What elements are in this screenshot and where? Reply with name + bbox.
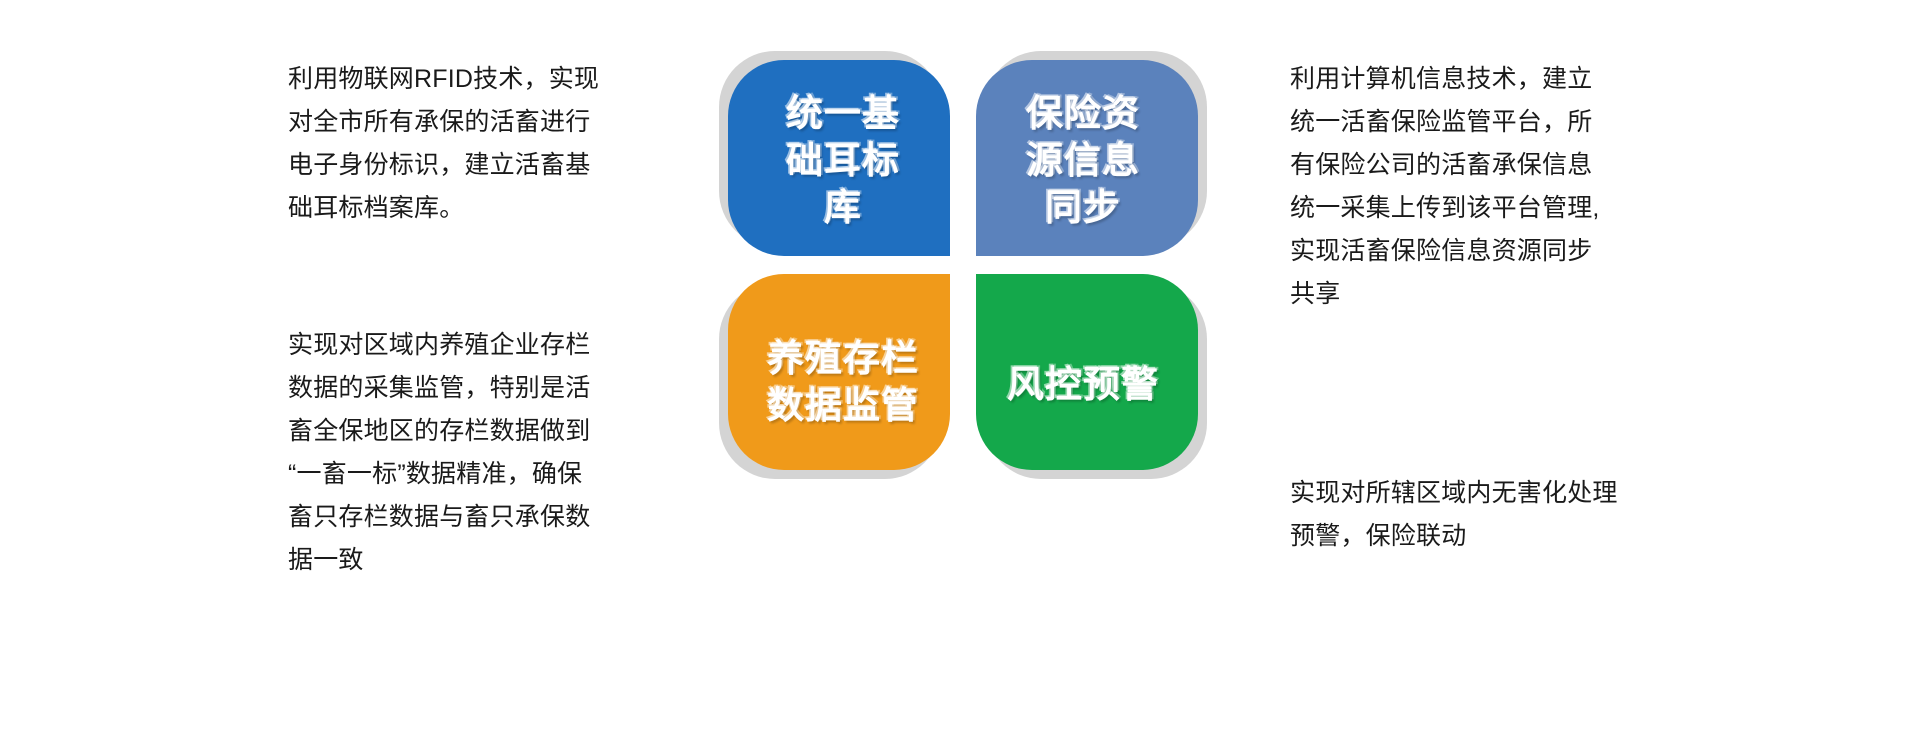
description-bottom-right: 实现对所辖区域内无害化处理 预警，保险联动: [1290, 472, 1670, 558]
petal-body-bottom-right[interactable]: 风控预警: [976, 274, 1198, 470]
description-bottom-left: 实现对区域内养殖企业存栏 数据的采集监管，特别是活 畜全保地区的存栏数据做到 “…: [288, 324, 618, 582]
petal-top-left[interactable]: 统一基 础耳标 库: [728, 60, 950, 256]
slide-canvas: 利用物联网RFID技术，实现 对全市所有承保的活畜进行 电子身份标识，建立活畜基…: [0, 0, 1920, 748]
petal-label-top-right: 保险资 源信息 同步: [1016, 90, 1150, 231]
four-petal-diagram: 统一基 础耳标 库 保险资 源信息 同步 养殖存栏 数据监管 风控预警: [728, 60, 1198, 470]
petal-bottom-left[interactable]: 养殖存栏 数据监管: [728, 274, 950, 470]
petal-body-bottom-left[interactable]: 养殖存栏 数据监管: [728, 274, 950, 470]
petal-label-top-left: 统一基 础耳标 库: [776, 90, 910, 231]
petal-label-bottom-right: 风控预警: [997, 361, 1169, 408]
petal-bottom-right[interactable]: 风控预警: [976, 274, 1198, 470]
description-top-left: 利用物联网RFID技术，实现 对全市所有承保的活畜进行 电子身份标识，建立活畜基…: [288, 58, 618, 230]
description-top-right: 利用计算机信息技术，建立 统一活畜保险监管平台，所 有保险公司的活畜承保信息 统…: [1290, 58, 1670, 316]
petal-body-top-right[interactable]: 保险资 源信息 同步: [976, 60, 1198, 256]
petal-top-right[interactable]: 保险资 源信息 同步: [976, 60, 1198, 256]
petal-body-top-left[interactable]: 统一基 础耳标 库: [728, 60, 950, 256]
petal-label-bottom-left: 养殖存栏 数据监管: [757, 335, 929, 429]
